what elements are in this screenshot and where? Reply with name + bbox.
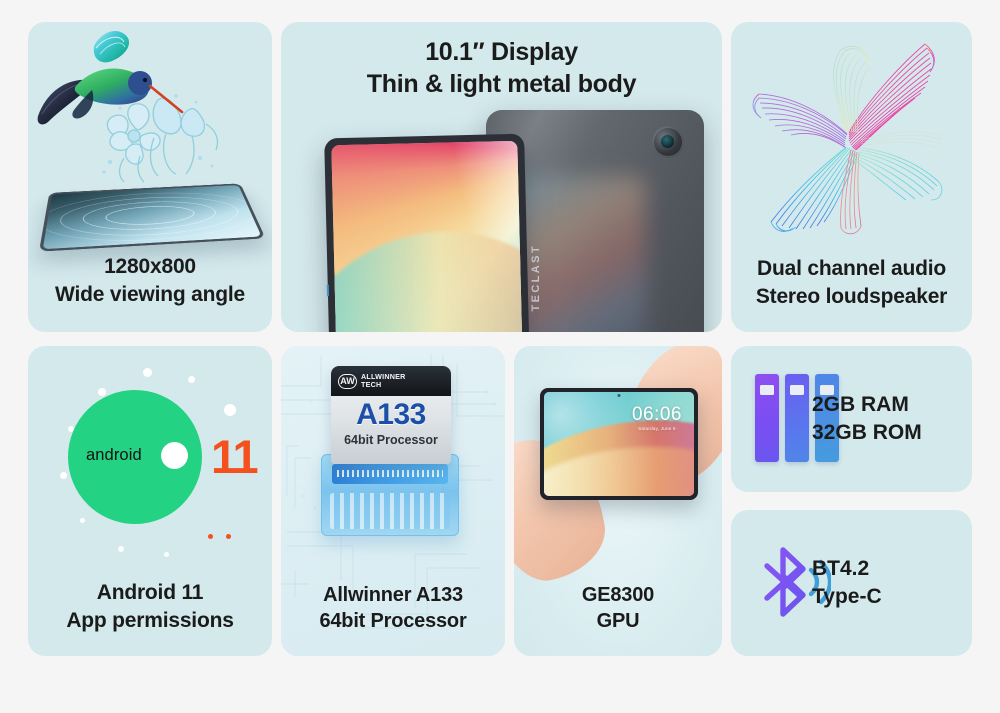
- side-button-icon: [327, 284, 329, 296]
- connectivity-caption: BT4.2 Type-C: [812, 555, 952, 611]
- memory-caption-line2: 32GB ROM: [812, 419, 952, 447]
- android-caption-line1: Android 11: [28, 579, 272, 606]
- display-headline-line2: Thin & light metal body: [281, 68, 722, 100]
- cpu-caption-line2: 64bit Processor: [281, 608, 505, 634]
- hummingbird-icon: [36, 28, 184, 140]
- panel-android: android 11 Android 11 App permissions: [28, 346, 272, 656]
- resolution-caption-line1: 1280x800: [28, 253, 272, 280]
- memory-caption: 2GB RAM 32GB ROM: [812, 391, 952, 447]
- front-camera-icon: [618, 394, 621, 397]
- panel-resolution: 1280x800 Wide viewing angle: [28, 22, 272, 332]
- feature-grid: 1280x800 Wide viewing angle 10.1″ Displa…: [0, 0, 1000, 713]
- clock-time: 06:06: [632, 404, 682, 425]
- memory-bar-label: [790, 385, 804, 395]
- audio-caption: Dual channel audio Stereo loudspeaker: [731, 255, 972, 310]
- panel-gpu: 06:06 Saturday, June 6 GE8300 GPU: [514, 346, 722, 656]
- cpu-caption-line1: Allwinner A133: [281, 582, 505, 608]
- chip-model-text: A133: [331, 398, 451, 432]
- cpu-caption: Allwinner A133 64bit Processor: [281, 582, 505, 634]
- memory-bar-label: [760, 385, 774, 395]
- sparkle-dot: [60, 472, 67, 479]
- chip-contact-strip: [332, 464, 448, 484]
- tablet-water-ripple: [39, 183, 266, 251]
- chip-brand-header: AW ALLWINNER TECH: [331, 366, 451, 396]
- chip-sub-text: 64bit Processor: [331, 433, 451, 447]
- tablet-front-view: [324, 134, 530, 332]
- android-wordmark: android: [86, 446, 142, 465]
- memory-bar: [785, 374, 809, 462]
- sparkle-dot-orange: [226, 534, 231, 539]
- audio-caption-line2: Stereo loudspeaker: [731, 283, 972, 310]
- sparkle-dot: [188, 376, 195, 383]
- audio-caption-line1: Dual channel audio: [731, 255, 972, 282]
- gpu-caption: GE8300 GPU: [514, 582, 722, 634]
- chip-label: AW ALLWINNER TECH A133 64bit Processor: [331, 366, 451, 464]
- android-caption-line2: App permissions: [28, 607, 272, 634]
- allwinner-brand-text: ALLWINNER TECH: [361, 373, 406, 389]
- sparkle-dot: [143, 368, 152, 377]
- gpu-caption-line2: GPU: [514, 608, 722, 634]
- clock-date: Saturday, June 6: [632, 427, 682, 432]
- audio-waveform-icon: [749, 36, 959, 248]
- allwinner-brand-line2: TECH: [361, 381, 406, 389]
- panel-cpu: AW ALLWINNER TECH A133 64bit Processor A…: [281, 346, 505, 656]
- panel-audio: Dual channel audio Stereo loudspeaker: [731, 22, 972, 332]
- sparkle-dot: [118, 546, 124, 552]
- android-caption: Android 11 App permissions: [28, 579, 272, 634]
- lockscreen-clock: 06:06 Saturday, June 6: [632, 405, 682, 432]
- panel-memory: 2GB RAM 32GB ROM: [731, 346, 972, 492]
- display-headline-line1: 10.1″ Display: [281, 36, 722, 68]
- tablet-held: 06:06 Saturday, June 6: [540, 388, 698, 500]
- display-headline: 10.1″ Display Thin & light metal body: [281, 36, 722, 100]
- rear-camera-icon: [652, 126, 684, 158]
- tablet-screen: [331, 141, 522, 332]
- ripple-ring: [39, 188, 266, 247]
- processor-chip-icon: AW ALLWINNER TECH A133 64bit Processor: [315, 366, 465, 546]
- sparkle-dot: [164, 552, 169, 557]
- sparkle-dot: [98, 388, 106, 396]
- chip-socket: [321, 454, 459, 536]
- connectivity-caption-line1: BT4.2: [812, 555, 952, 583]
- memory-bar: [755, 374, 779, 462]
- gpu-caption-line1: GE8300: [514, 582, 722, 608]
- panel-connectivity: BT4.2 Type-C: [731, 510, 972, 656]
- android-version-number: 11: [211, 433, 257, 480]
- android-logo-dot: [161, 442, 188, 469]
- sparkle-dot: [224, 404, 236, 416]
- chip-heatsink-fins: [330, 493, 450, 529]
- memory-caption-line1: 2GB RAM: [812, 391, 952, 419]
- panel-display: 10.1″ Display Thin & light metal body TE…: [281, 22, 722, 332]
- resolution-caption: 1280x800 Wide viewing angle: [28, 253, 272, 308]
- allwinner-logo-mark: AW: [338, 374, 357, 389]
- sparkle-dot-orange: [208, 534, 213, 539]
- connectivity-caption-line2: Type-C: [812, 583, 952, 611]
- resolution-caption-line2: Wide viewing angle: [28, 281, 272, 308]
- brand-logo-text: TECLAST: [530, 244, 542, 312]
- android-logo-circle: android: [68, 390, 202, 524]
- sparkle-dot: [80, 518, 85, 523]
